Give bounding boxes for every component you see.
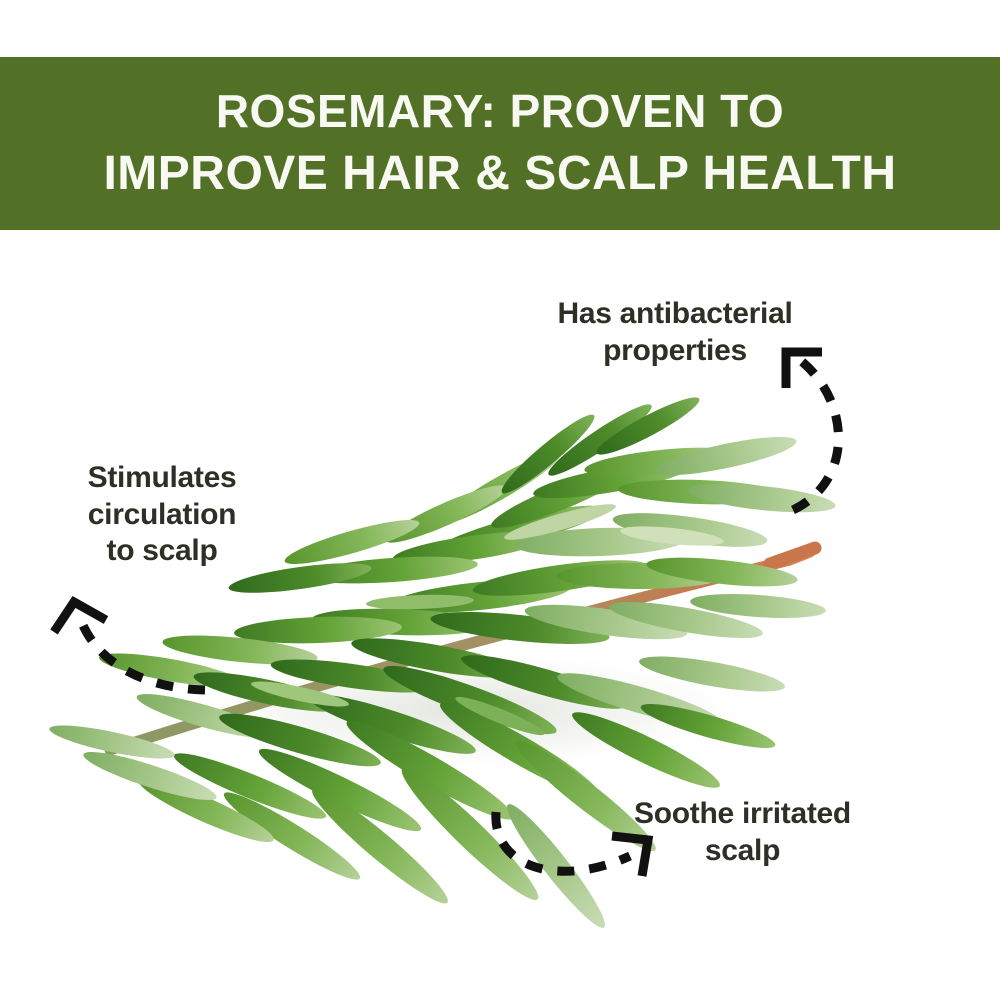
rosemary-benefits-infographic: ROSEMARY: PROVEN TO IMPROVE HAIR & SCALP… <box>0 0 1000 1000</box>
stem-cut-tip <box>770 548 815 564</box>
callout-soothe-text: Soothe irritated scalp <box>590 796 895 869</box>
callout-antibacterial-text: Has antibacterial properties <box>500 296 850 369</box>
header-title-line-2: IMPROVE HAIR & SCALP HEALTH <box>103 142 896 206</box>
callout-circulation-text: Stimulates circulation to scalp <box>36 460 288 570</box>
header-banner: ROSEMARY: PROVEN TO IMPROVE HAIR & SCALP… <box>0 57 1000 230</box>
header-title-line-1: ROSEMARY: PROVEN TO <box>216 81 784 143</box>
